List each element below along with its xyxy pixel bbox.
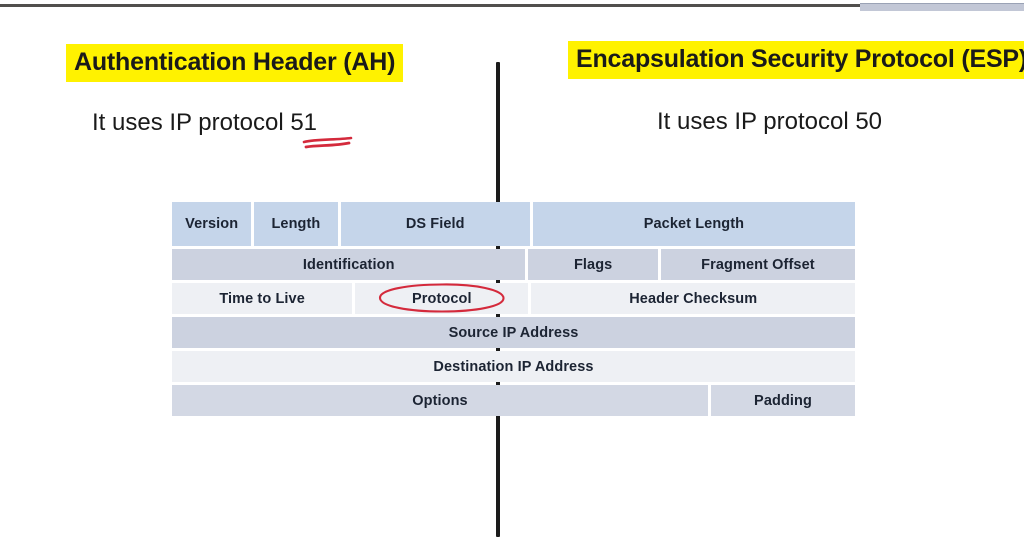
ipv4-header-row: Destination IP Address [172, 351, 855, 382]
ipv4-field-cell: Packet Length [533, 202, 855, 246]
ah-title: Authentication Header (AH) [66, 44, 403, 82]
esp-subtitle: It uses IP protocol 50 [657, 108, 882, 136]
ipv4-field-cell: Fragment Offset [661, 249, 855, 280]
red-underline-annotation [302, 136, 354, 158]
ipv4-field-cell: Flags [528, 249, 657, 280]
ipv4-field-cell: Source IP Address [172, 317, 855, 348]
ipv4-header-row: IdentificationFlagsFragment Offset [172, 249, 855, 280]
ipv4-field-cell: Padding [711, 385, 855, 416]
ah-subtitle: It uses IP protocol 51 [92, 109, 317, 137]
ipv4-field-cell: Protocol [355, 283, 528, 314]
top-chrome-rule [0, 4, 862, 7]
ipv4-field-cell: DS Field [341, 202, 530, 246]
top-chrome-right-segment [860, 3, 1024, 11]
esp-title: Encapsulation Security Protocol (ESP) [568, 41, 1024, 79]
ipv4-field-cell: Identification [172, 249, 525, 280]
ipv4-field-cell: Options [172, 385, 708, 416]
ipv4-header-row: Time to LiveProtocolHeader Checksum [172, 283, 855, 314]
ipv4-field-cell: Length [254, 202, 337, 246]
ipv4-header-row: VersionLengthDS FieldPacket Length [172, 202, 855, 246]
ipv4-field-cell: Header Checksum [531, 283, 855, 314]
top-chrome-bar [0, 0, 1024, 11]
ipv4-header-row: OptionsPadding [172, 385, 855, 416]
ipv4-field-cell: Destination IP Address [172, 351, 855, 382]
ipv4-header-row: Source IP Address [172, 317, 855, 348]
ipv4-field-cell: Time to Live [172, 283, 352, 314]
ipv4-field-cell: Version [172, 202, 251, 246]
ipv4-header-table: VersionLengthDS FieldPacket LengthIdenti… [172, 202, 855, 407]
